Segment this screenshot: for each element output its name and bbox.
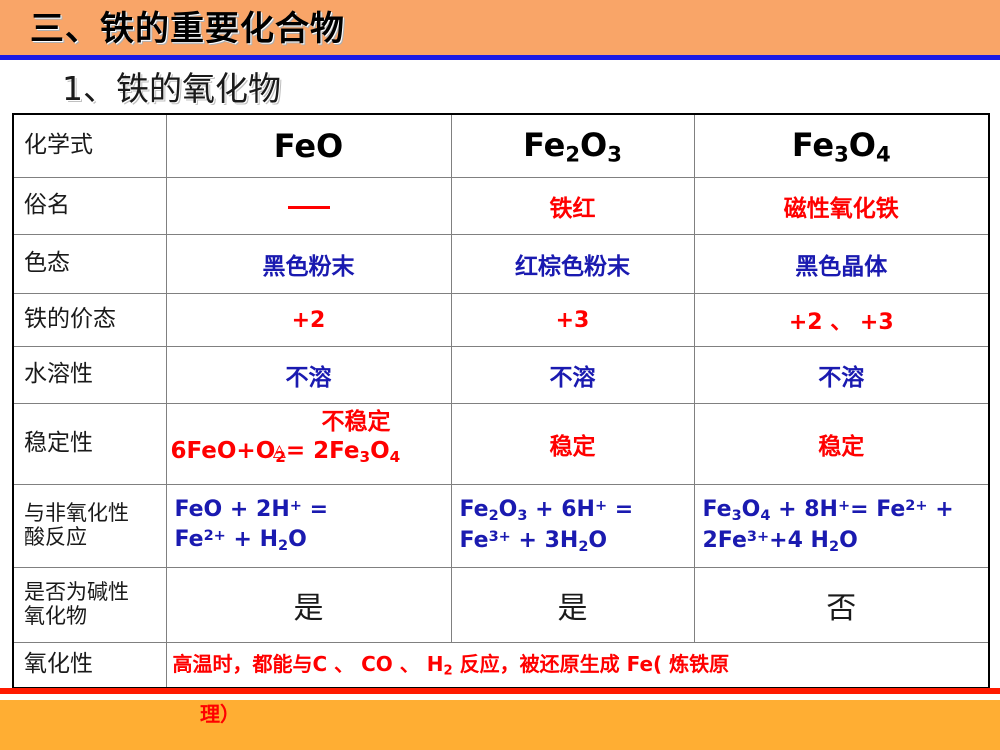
row-label-basic-oxide: 是否为碱性 氧化物: [13, 568, 166, 643]
table-row-acid-reaction: 与非氧化性 酸反应 FeO + 2H+ =Fe2+ + H2O Fe2O3 + …: [13, 485, 989, 568]
fe3o4-o: O: [849, 126, 876, 164]
table-row-solubility: 水溶性 不溶 不溶 不溶: [13, 347, 989, 404]
cell-acid-eq-fe2o3: Fe2O3 + 6H+ =Fe3+ + 3H2O: [451, 485, 694, 568]
table-row-color-state: 色态 黑色粉末 红棕色粉末 黑色晶体: [13, 235, 989, 294]
table-row-common-name: 俗名 铁红 磁性氧化铁: [13, 178, 989, 235]
eq-equals: =: [286, 438, 305, 464]
row-label-valence: 铁的价态: [13, 294, 166, 347]
cell-color-feo: 黑色粉末: [166, 235, 451, 294]
row-label-solubility: 水溶性: [13, 347, 166, 404]
red-separator-rule: [0, 688, 1000, 694]
fe3o4-sub-3: 3: [834, 141, 849, 166]
fe2o3-fe: Fe: [523, 126, 565, 164]
fe2o3-sub-2: 2: [565, 141, 580, 166]
basic-label-line1: 是否为碱性: [24, 581, 158, 605]
iron-oxides-table: 化学式 FeO Fe2O3 Fe3O4 俗名 铁红 磁性氧化铁: [12, 113, 990, 689]
cell-formula-feo: FeO: [166, 114, 451, 178]
cell-color-fe2o3: 红棕色粉末: [451, 235, 694, 294]
title-banner: 三、铁的重要化合物: [0, 0, 1000, 55]
row-label-acid-reaction: 与非氧化性 酸反应: [13, 485, 166, 568]
row-label-color-state: 色态: [13, 235, 166, 294]
oxidizing-text: 高温时，都能与C 、 CO 、 H2 反应，被还原生成 Fe( 炼铁原: [173, 649, 1000, 682]
cell-formula-fe2o3: Fe2O3: [451, 114, 694, 178]
row-label-stability: 稳定性: [13, 404, 166, 485]
cell-stability-fe3o4: 稳定: [694, 404, 989, 485]
fe2o3-sub-3: 3: [607, 141, 622, 166]
eq-sub-o4: 4: [390, 448, 401, 466]
row-label-common-name: 俗名: [13, 178, 166, 235]
cell-valence-fe3o4: +2 、 +3: [694, 294, 989, 347]
cell-valence-feo: +2: [166, 294, 451, 347]
acid-label-line1: 与非氧化性: [24, 502, 158, 526]
table-row-oxidizing: 氧化性 高温时，都能与C 、 CO 、 H2 反应，被还原生成 Fe( 炼铁原: [13, 643, 989, 689]
page-title: 三、铁的重要化合物: [30, 1, 345, 50]
cell-oxidizing-description: 高温时，都能与C 、 CO 、 H2 反应，被还原生成 Fe( 炼铁原: [166, 643, 989, 689]
row-label-oxidizing: 氧化性: [13, 643, 166, 689]
eq-sub-fe3: 3: [360, 448, 371, 466]
cell-solubility-feo: 不溶: [166, 347, 451, 404]
table-row-basic-oxide: 是否为碱性 氧化物 是 是 否: [13, 568, 989, 643]
row-label-formula: 化学式: [13, 114, 166, 178]
fe3o4-fe: Fe: [792, 126, 834, 164]
em-dash-placeholder: [288, 206, 330, 209]
acid-label-line2: 酸反应: [24, 526, 158, 550]
cell-common-name-fe3o4: 磁性氧化铁: [694, 178, 989, 235]
eq-reactant: 6FeO+O: [171, 438, 276, 464]
bottom-orange-band: [0, 700, 1000, 750]
cell-acid-eq-feo: FeO + 2H+ =Fe2+ + H2O: [166, 485, 451, 568]
cell-color-fe3o4: 黑色晶体: [694, 235, 989, 294]
cell-solubility-fe3o4: 不溶: [694, 347, 989, 404]
stability-note-unstable: 不稳定: [322, 402, 391, 436]
cell-valence-fe2o3: +3: [451, 294, 694, 347]
section-subtitle: 1、铁的氧化物: [62, 62, 281, 110]
cell-basic-oxide-fe3o4: 否: [694, 568, 989, 643]
stability-equation-feo: 6FeO+O2△= 2Fe3O4: [171, 438, 401, 466]
table-row-stability: 稳定性 不稳定 6FeO+O2△= 2Fe3O4 稳定 稳定: [13, 404, 989, 485]
cell-basic-oxide-fe2o3: 是: [451, 568, 694, 643]
oxidizing-text-overflow: 理）: [200, 698, 240, 727]
basic-label-line2: 氧化物: [24, 605, 158, 629]
table-row-formula: 化学式 FeO Fe2O3 Fe3O4: [13, 114, 989, 178]
cell-stability-feo: 不稳定 6FeO+O2△= 2Fe3O4: [166, 404, 451, 485]
cell-solubility-fe2o3: 不溶: [451, 347, 694, 404]
cell-formula-fe3o4: Fe3O4: [694, 114, 989, 178]
table-row-valence: 铁的价态 +2 +3 +2 、 +3: [13, 294, 989, 347]
title-divider-rule: [0, 55, 1000, 60]
fe2o3-o: O: [580, 126, 607, 164]
cell-common-name-fe2o3: 铁红: [451, 178, 694, 235]
cell-stability-fe2o3: 稳定: [451, 404, 694, 485]
cell-acid-eq-fe3o4: Fe3O4 + 8H+= Fe2+ +2Fe3++4 H2O: [694, 485, 989, 568]
cell-common-name-feo: [166, 178, 451, 235]
eq-product-o: O: [370, 438, 390, 464]
cell-basic-oxide-feo: 是: [166, 568, 451, 643]
eq-product: 2Fe: [305, 438, 359, 464]
fe3o4-sub-4: 4: [876, 141, 891, 166]
formula-feo-text: FeO: [274, 127, 343, 165]
